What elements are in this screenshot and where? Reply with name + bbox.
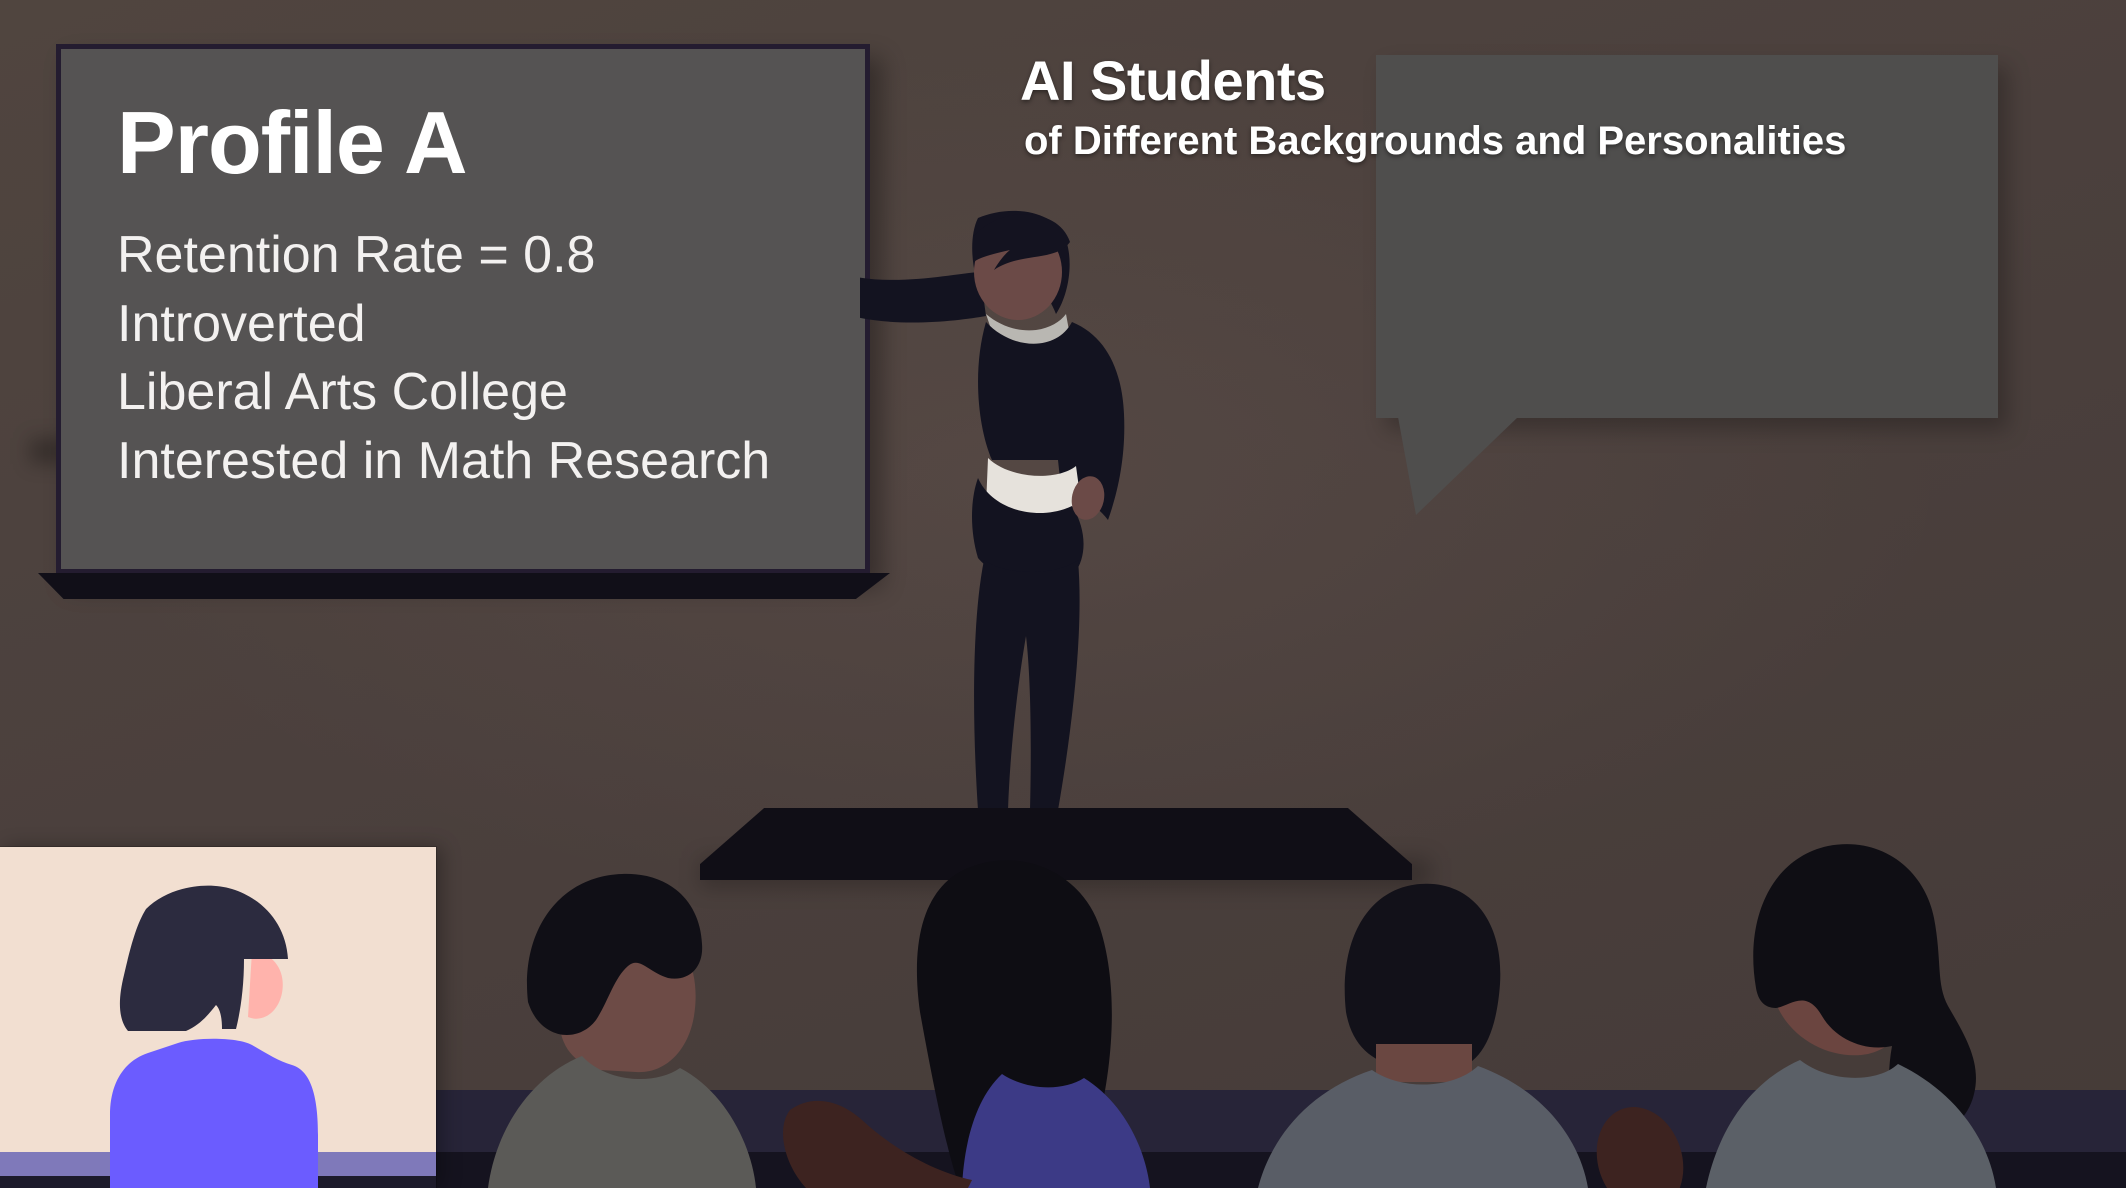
slide-title: Profile A <box>117 99 821 187</box>
video-tile-person <box>0 847 436 1188</box>
speech-bubble-body <box>1376 55 1998 418</box>
screenshot-canvas: Profile A Retention Rate = 0.8 Introvert… <box>0 0 2126 1188</box>
slide-line-institution: Liberal Arts College <box>117 358 821 427</box>
slide-line-retention-rate: Retention Rate = 0.8 <box>117 221 821 290</box>
stage-riser <box>700 808 1412 880</box>
slide-line-personality: Introverted <box>117 290 821 359</box>
participant-video-tile[interactable] <box>0 847 436 1188</box>
speech-bubble[interactable] <box>1376 55 1998 418</box>
projection-screen-ledge <box>38 573 890 599</box>
slide-content: Profile A Retention Rate = 0.8 Introvert… <box>61 49 865 569</box>
projection-screen[interactable]: Profile A Retention Rate = 0.8 Introvert… <box>56 44 870 574</box>
presenter-figure <box>860 210 1180 810</box>
slide-line-interest: Interested in Math Research <box>117 427 821 496</box>
